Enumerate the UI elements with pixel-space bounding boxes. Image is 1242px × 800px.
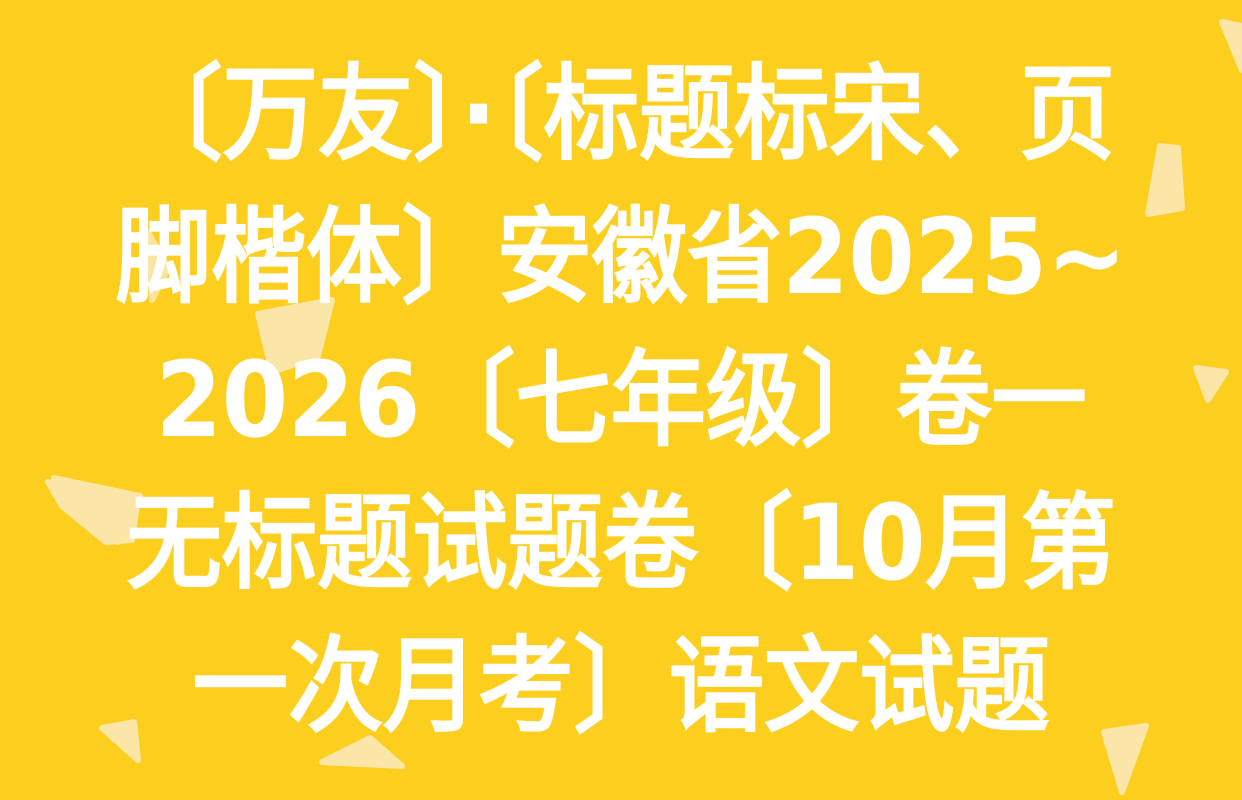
poster-canvas: 〔万友〕·〔标题标宋、页脚楷体〕安徽省2025~2026〔七年级〕卷一 无标题试… xyxy=(0,0,1242,800)
title-block: 〔万友〕·〔标题标宋、页脚楷体〕安徽省2025~2026〔七年级〕卷一 无标题试… xyxy=(0,0,1242,800)
page-title: 〔万友〕·〔标题标宋、页脚楷体〕安徽省2025~2026〔七年级〕卷一 无标题试… xyxy=(107,43,1136,758)
